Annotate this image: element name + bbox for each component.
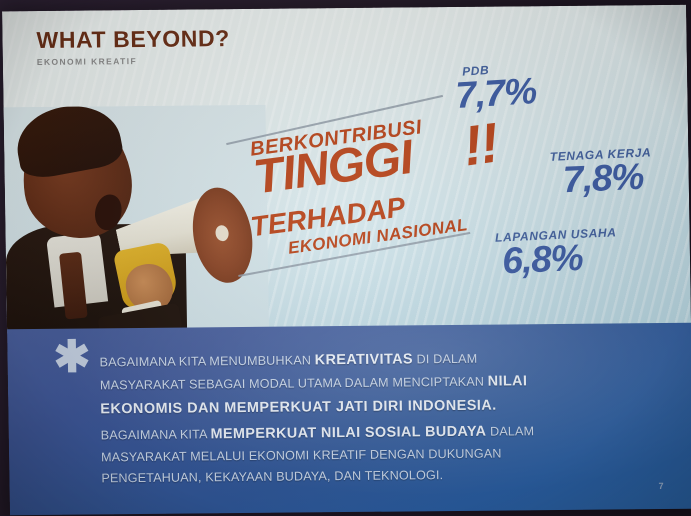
stat-tenaga-kerja: TENAGA KERJA 7,8% [549, 145, 653, 198]
stat-pdb-value: 7,7% [455, 73, 538, 113]
p2l1-strong: MEMPERKUAT NILAI SOSIAL BUDAYA [210, 424, 486, 443]
p1l2-strong: NILAI [488, 374, 528, 390]
slide-header: WHAT BEYOND? EKONOMI KREATIF [36, 25, 230, 67]
stat-pdb: PDB 7,7% [454, 60, 537, 113]
page-title: WHAT BEYOND? [36, 25, 230, 54]
headline-exclamation: !! [460, 115, 501, 175]
asterisk-icon: ✱ [53, 341, 88, 377]
projected-slide-photograph: WHAT BEYOND? EKONOMI KREATIF BERKON [0, 0, 691, 516]
presentation-slide: WHAT BEYOND? EKONOMI KREATIF BERKON [2, 5, 691, 516]
page-subtitle: EKONOMI KREATIF [37, 55, 230, 67]
bullet-paragraph-1: BAGAIMANA KITA MENUMBUHKAN KREATIVITAS D… [99, 346, 660, 421]
p1l1-post: DI DALAM [413, 352, 478, 367]
stat-lapangan-usaha-value: 6,8% [501, 238, 618, 279]
p1l2-pre: MASYARAKAT SEBAGAI MODAL UTAMA DALAM MEN… [100, 375, 488, 393]
p1l1-pre: BAGAIMANA KITA MENUMBUHKAN [99, 353, 314, 369]
p2l1-pre: BAGAIMANA KITA [101, 427, 211, 442]
p1l1-strong: KREATIVITAS [315, 351, 413, 368]
page-number: 7 [658, 481, 663, 491]
bullet-paragraph-2: BAGAIMANA KITA MEMPERKUAT NILAI SOSIAL B… [101, 419, 662, 488]
stat-lapangan-usaha: LAPANGAN USAHA 6,8% [495, 225, 619, 279]
megaphone-man-photo [4, 105, 270, 333]
p2l1-post: DALAM [486, 424, 534, 438]
stat-tenaga-kerja-value: 7,8% [562, 158, 653, 197]
